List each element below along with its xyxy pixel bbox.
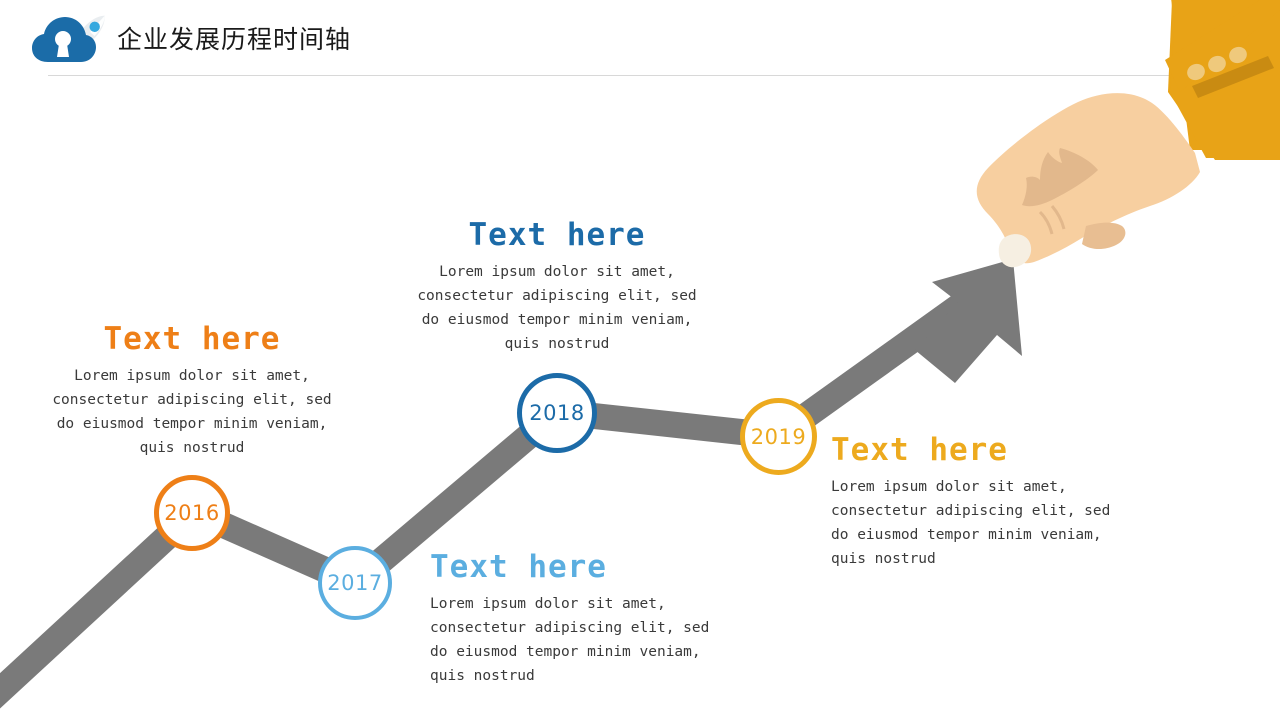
milestone-body-line: Lorem ipsum dolor sit amet, [430, 592, 730, 616]
milestone-text-2016: Text here Lorem ipsum dolor sit amet, co… [47, 320, 337, 460]
milestone-body-line: consectetur adipiscing elit, sed [430, 616, 730, 640]
cloud-keyhole-rocket-logo-icon [28, 8, 114, 70]
year-node-2016-label: 2016 [164, 501, 219, 525]
milestone-title-2019: Text here [831, 431, 1131, 469]
year-node-2018-label: 2018 [529, 401, 584, 425]
milestone-body-2019: Lorem ipsum dolor sit amet, consectetur … [831, 475, 1131, 571]
milestone-body-2016: Lorem ipsum dolor sit amet, consectetur … [47, 364, 337, 460]
milestone-text-2019: Text here Lorem ipsum dolor sit amet, co… [831, 431, 1131, 571]
milestone-body-line: do eiusmod tempor minim veniam, [47, 412, 337, 436]
slide-canvas: 企业发展历程时间轴 2016 201 [0, 0, 1280, 720]
milestone-text-2018: Text here Lorem ipsum dolor sit amet, co… [412, 216, 702, 356]
milestone-body-line: do eiusmod tempor minim veniam, [412, 308, 702, 332]
year-node-2017[interactable]: 2017 [318, 546, 392, 620]
year-node-2019[interactable]: 2019 [740, 398, 817, 475]
year-node-2017-label: 2017 [327, 571, 382, 595]
milestone-title-2018: Text here [412, 216, 702, 254]
year-node-2019-label: 2019 [751, 425, 806, 449]
page-title: 企业发展历程时间轴 [117, 25, 351, 55]
milestone-body-line: consectetur adipiscing elit, sed [412, 284, 702, 308]
milestone-text-2017: Text here Lorem ipsum dolor sit amet, co… [430, 548, 730, 688]
milestone-body-line: Lorem ipsum dolor sit amet, [47, 364, 337, 388]
milestone-body-line: Lorem ipsum dolor sit amet, [412, 260, 702, 284]
milestone-body-line: consectetur adipiscing elit, sed [47, 388, 337, 412]
milestone-body-line: quis nostrud [831, 547, 1131, 571]
milestone-body-2017: Lorem ipsum dolor sit amet, consectetur … [430, 592, 730, 688]
year-node-2018[interactable]: 2018 [517, 373, 597, 453]
milestone-body-2018: Lorem ipsum dolor sit amet, consectetur … [412, 260, 702, 356]
milestone-title-2017: Text here [430, 548, 730, 586]
milestone-body-line: quis nostrud [47, 436, 337, 460]
milestone-title-2016: Text here [47, 320, 337, 358]
milestone-body-line: quis nostrud [430, 664, 730, 688]
milestone-body-line: quis nostrud [412, 332, 702, 356]
year-node-2016[interactable]: 2016 [154, 475, 230, 551]
header-divider [48, 75, 1230, 76]
milestone-body-line: do eiusmod tempor minim veniam, [831, 523, 1131, 547]
milestone-body-line: consectetur adipiscing elit, sed [831, 499, 1131, 523]
slide-header: 企业发展历程时间轴 [0, 0, 1280, 80]
milestone-body-line: do eiusmod tempor minim veniam, [430, 640, 730, 664]
milestone-body-line: Lorem ipsum dolor sit amet, [831, 475, 1131, 499]
